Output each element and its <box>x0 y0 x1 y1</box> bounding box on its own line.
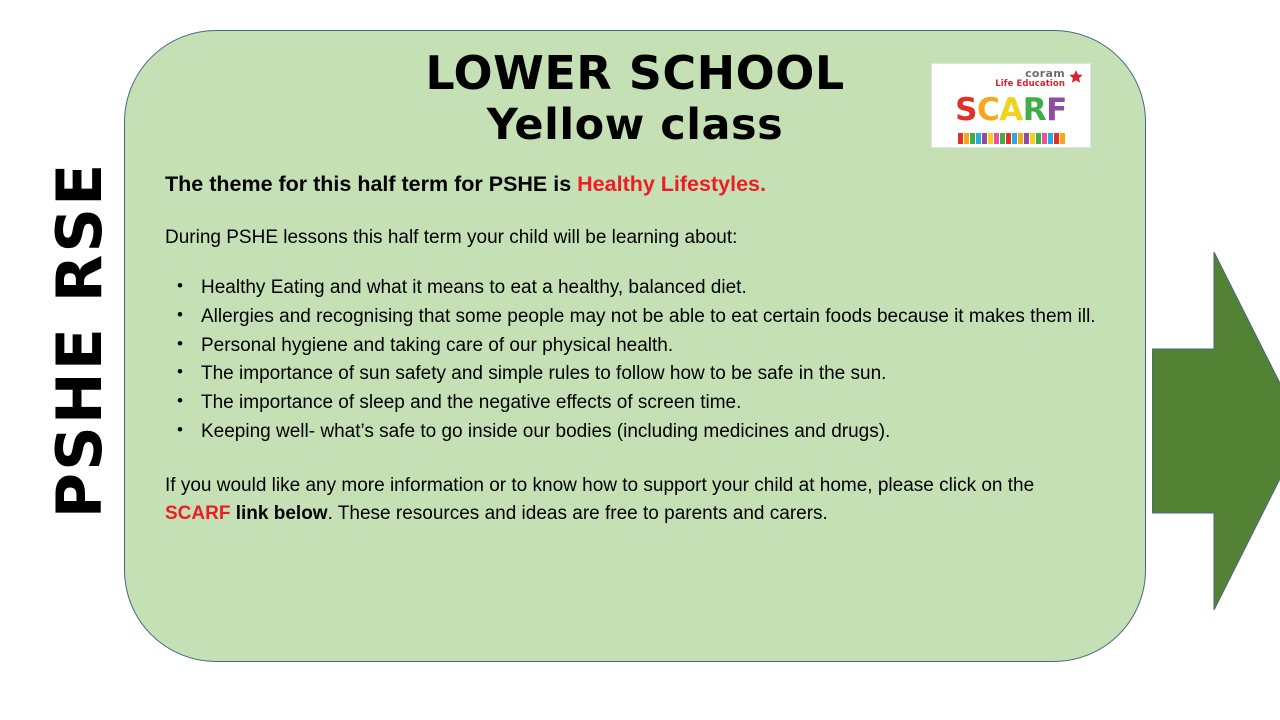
person-figure-icon <box>1042 133 1047 144</box>
person-figure-icon <box>976 133 981 144</box>
list-item: The importance of sleep and the negative… <box>165 390 1105 417</box>
person-figure-icon <box>964 133 969 144</box>
person-figure-icon <box>1054 133 1059 144</box>
coram-wordmark: coram <box>1025 68 1065 79</box>
scarf-wordmark: S C A R F <box>938 96 1084 125</box>
list-item: The importance of sun safety and simple … <box>165 361 1105 388</box>
section-label-vertical: PSHE RSE <box>35 110 125 570</box>
next-arrow[interactable] <box>1152 252 1280 610</box>
intro-paragraph: During PSHE lessons this half term your … <box>165 225 1105 251</box>
coram-text-block: coram Life Education <box>995 68 1065 89</box>
outro-link-below: link below <box>230 503 327 524</box>
scarf-letter-s: S <box>955 96 977 125</box>
list-item: Allergies and recognising that some peop… <box>165 304 1105 331</box>
theme-statement: The theme for this half term for PSHE is… <box>165 171 1105 199</box>
theme-accent: Healthy Lifestyles. <box>577 172 766 196</box>
learning-topics-list: Healthy Eating and what it means to eat … <box>165 275 1105 447</box>
person-figure-icon <box>1060 133 1065 144</box>
section-label-text: PSHE RSE <box>49 162 111 519</box>
outro-scarf-link[interactable]: SCARF <box>165 503 230 524</box>
people-figures-row <box>938 131 1084 145</box>
person-figure-icon <box>1006 133 1011 144</box>
list-item: Keeping well- what’s safe to go inside o… <box>165 419 1105 446</box>
scarf-letter-r: R <box>1023 96 1046 125</box>
list-item: Healthy Eating and what it means to eat … <box>165 275 1105 302</box>
person-figure-icon <box>1048 133 1053 144</box>
person-figure-icon <box>1000 133 1005 144</box>
star-icon <box>1068 69 1084 85</box>
outro-part-two: . These resources and ideas are free to … <box>328 503 828 524</box>
person-figure-icon <box>988 133 993 144</box>
person-figure-icon <box>958 133 963 144</box>
scarf-letter-f: F <box>1046 96 1067 125</box>
body-content: The theme for this half term for PSHE is… <box>165 171 1105 527</box>
scarf-letter-a: A <box>999 96 1023 125</box>
person-figure-icon <box>994 133 999 144</box>
outro-part-one: If you would like any more information o… <box>165 475 1034 496</box>
theme-prefix: The theme for this half term for PSHE is <box>165 172 577 196</box>
content-panel: LOWER SCHOOL Yellow class coram Life Edu… <box>124 30 1146 662</box>
coram-life-education-lockup: coram Life Education <box>938 68 1084 90</box>
person-figure-icon <box>1030 133 1035 144</box>
life-education-text: Life Education <box>995 80 1065 89</box>
scarf-letter-c: C <box>977 96 999 125</box>
outro-paragraph: If you would like any more information o… <box>165 472 1085 527</box>
person-figure-icon <box>1018 133 1023 144</box>
list-item: Personal hygiene and taking care of our … <box>165 333 1105 360</box>
scarf-logo: coram Life Education S C A R F <box>931 63 1091 148</box>
person-figure-icon <box>982 133 987 144</box>
person-figure-icon <box>1024 133 1029 144</box>
person-figure-icon <box>970 133 975 144</box>
person-figure-icon <box>1012 133 1017 144</box>
person-figure-icon <box>1036 133 1041 144</box>
arrow-right-icon[interactable] <box>1152 252 1280 610</box>
